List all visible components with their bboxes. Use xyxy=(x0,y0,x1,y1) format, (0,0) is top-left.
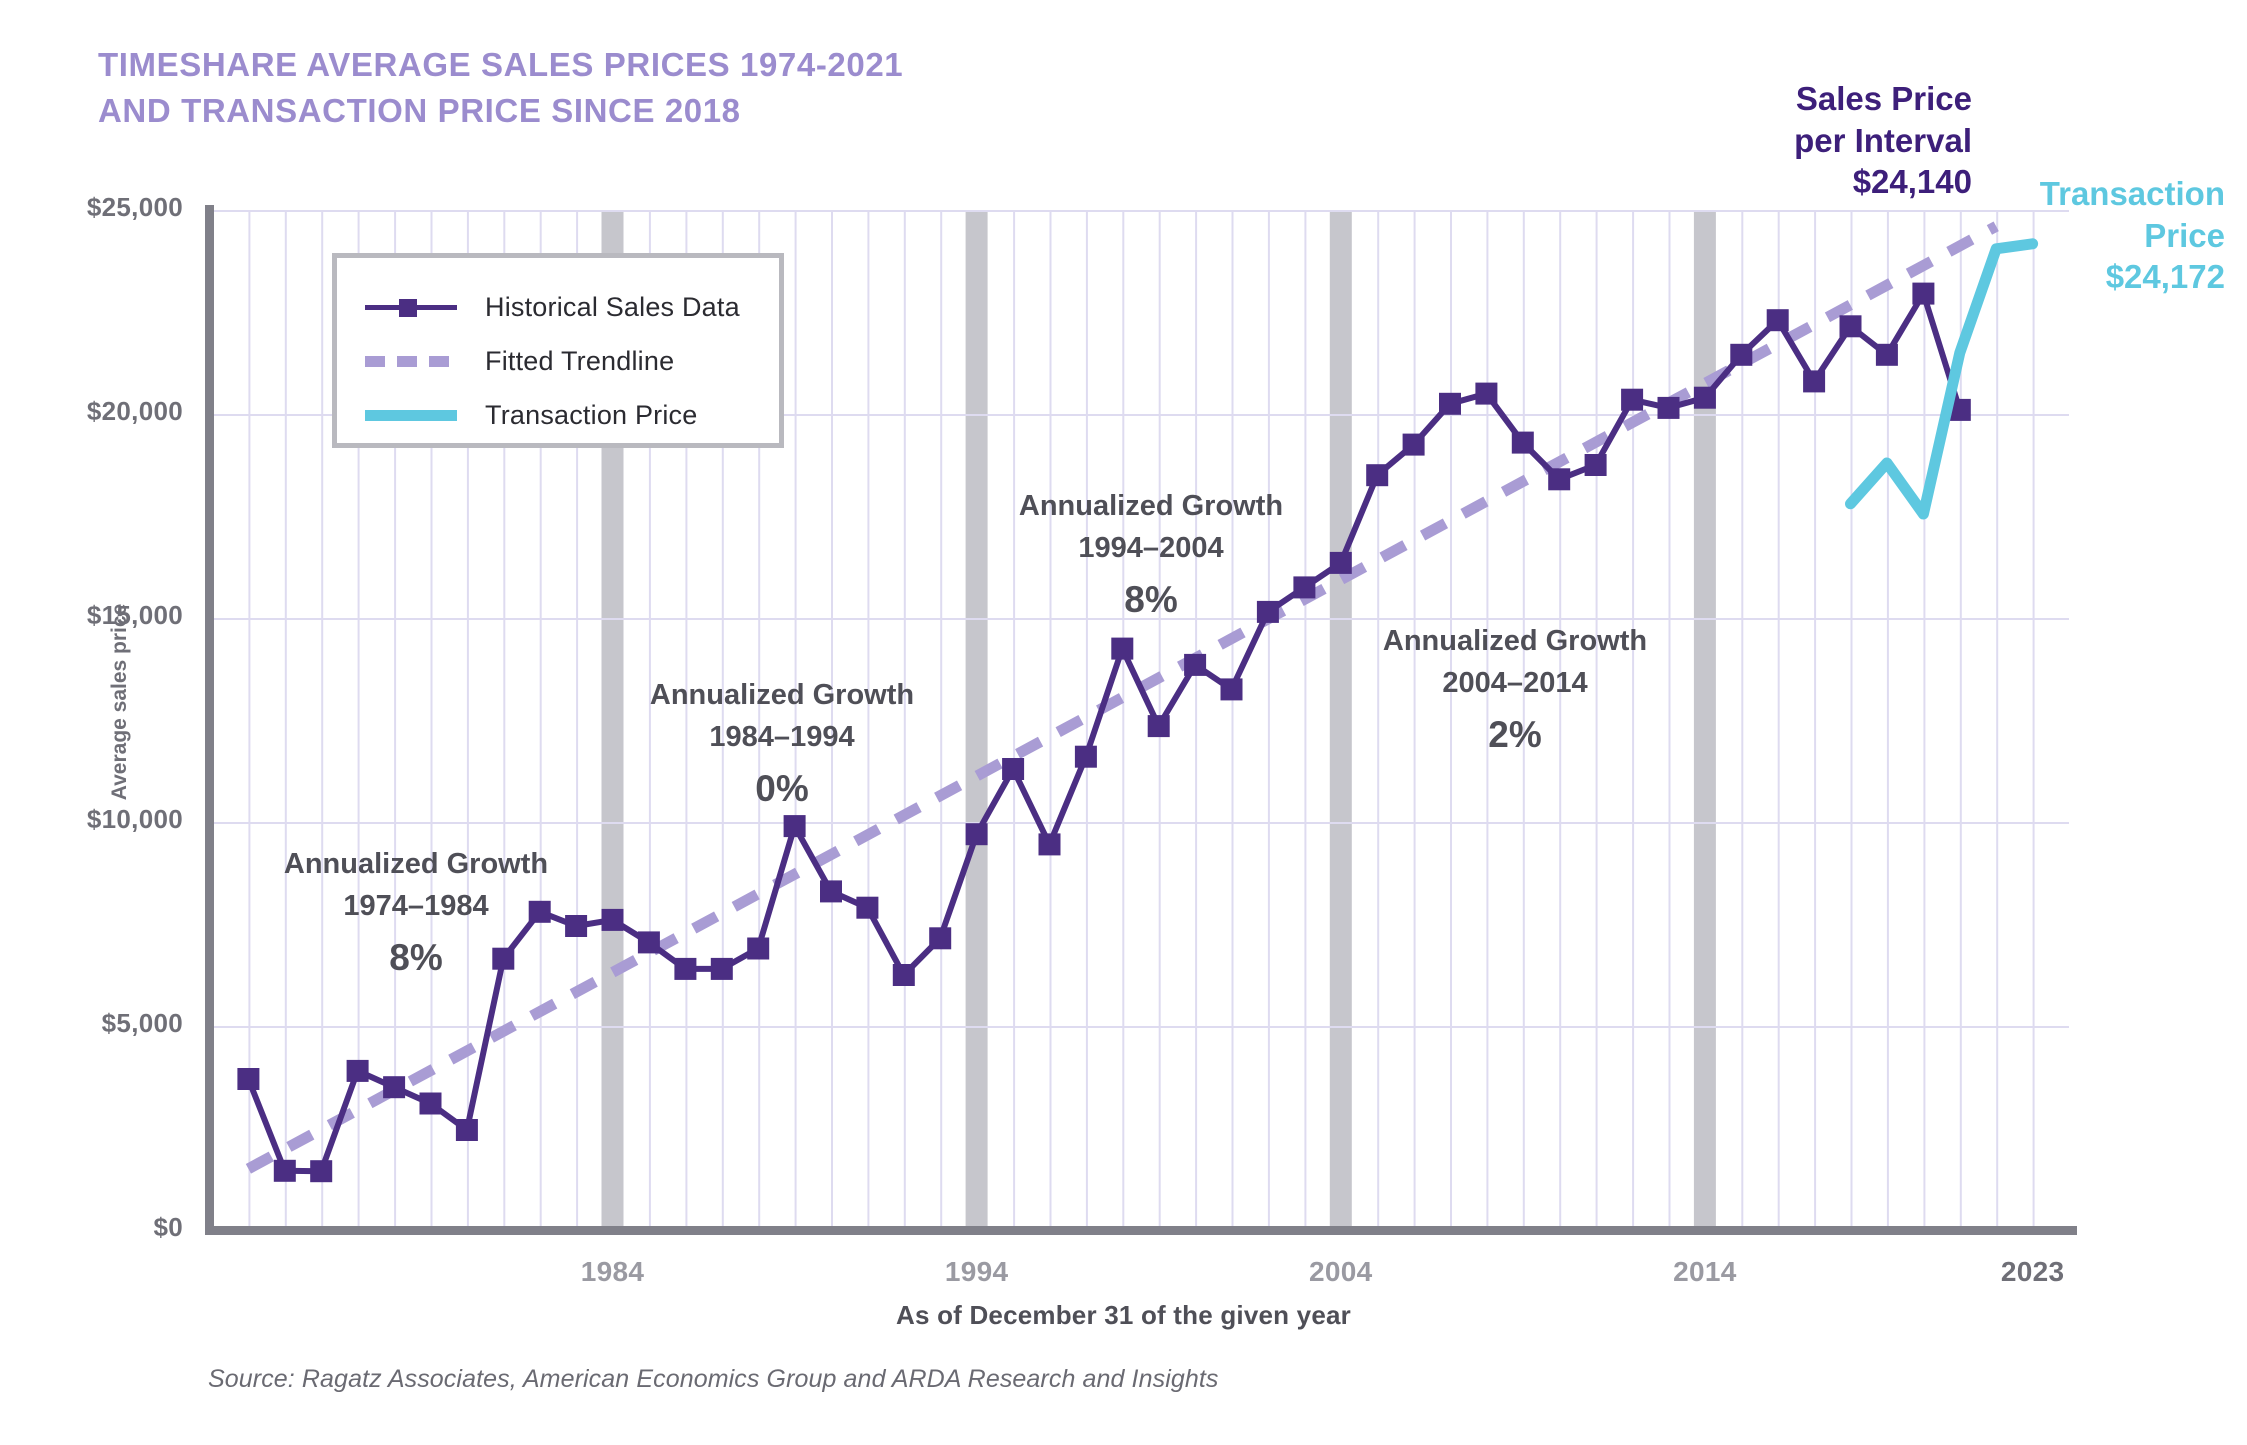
callout-transaction-price: Transaction Price $24,172 xyxy=(1985,173,2225,298)
callout-transaction-value: $24,172 xyxy=(1985,256,2225,298)
legend-label-historical-sales-data: Historical Sales Data xyxy=(485,292,740,323)
x-axis-title: As of December 31 of the given year xyxy=(0,1300,2247,1331)
y-axis-title: Average sales price xyxy=(108,562,132,842)
legend-item-transaction-price[interactable]: Transaction Price xyxy=(337,388,779,442)
y-tick-label: $20,000 xyxy=(3,396,183,427)
legend-key-historical-sales-data xyxy=(365,296,457,318)
x-tick-label: 2023 xyxy=(1953,1256,2113,1288)
callout-transaction-line-2: Price xyxy=(1985,215,2225,257)
chart-page: TIMESHARE AVERAGE SALES PRICES 1974-2021… xyxy=(0,0,2247,1445)
callout-transaction-line-1: Transaction xyxy=(1985,173,2225,215)
annotation-line-1: Annualized Growth xyxy=(1345,620,1685,662)
annotation-line-1: Annualized Growth xyxy=(246,843,586,885)
chart-legend: Historical Sales Data Fitted Trendline T… xyxy=(332,253,784,448)
annotation-line-2: 1994–2004 xyxy=(981,527,1321,569)
annotation-line-1: Annualized Growth xyxy=(981,485,1321,527)
y-tick-label: $15,000 xyxy=(3,600,183,631)
y-tick-label: $5,000 xyxy=(3,1008,183,1039)
source-note: Source: Ragatz Associates, American Econ… xyxy=(208,1365,1219,1394)
x-tick-label: 2004 xyxy=(1261,1256,1421,1288)
callout-sales-line-2: per Interval xyxy=(1712,120,1972,162)
legend-item-fitted-trendline[interactable]: Fitted Trendline xyxy=(337,334,779,388)
x-tick-label: 1994 xyxy=(897,1256,1057,1288)
annotation-value: 0% xyxy=(612,762,952,816)
callout-sales-price-per-interval: Sales Price per Interval $24,140 xyxy=(1712,78,1972,203)
callout-sales-value: $24,140 xyxy=(1712,161,1972,203)
y-axis-line xyxy=(205,205,214,1235)
annotation-growth-1974-1984: Annualized Growth 1974–1984 8% xyxy=(246,843,586,985)
chart-title: TIMESHARE AVERAGE SALES PRICES 1974-2021… xyxy=(98,42,903,133)
annotation-growth-1994-2004: Annualized Growth 1994–2004 8% xyxy=(981,485,1321,627)
annotation-growth-2004-2014: Annualized Growth 2004–2014 2% xyxy=(1345,620,1685,762)
annotation-value: 8% xyxy=(981,573,1321,627)
x-tick-label: 1984 xyxy=(533,1256,693,1288)
y-tick-label: $0 xyxy=(3,1212,183,1243)
legend-key-fitted-trendline xyxy=(365,350,457,372)
x-tick-label: 2014 xyxy=(1625,1256,1785,1288)
x-axis-line xyxy=(205,1226,2077,1235)
annotation-value: 8% xyxy=(246,931,586,985)
annotation-line-2: 1984–1994 xyxy=(612,716,952,758)
y-tick-label: $10,000 xyxy=(3,804,183,835)
legend-item-historical-sales-data[interactable]: Historical Sales Data xyxy=(337,280,779,334)
y-tick-label: $25,000 xyxy=(3,192,183,223)
annotation-growth-1984-1994: Annualized Growth 1984–1994 0% xyxy=(612,674,952,816)
callout-sales-line-1: Sales Price xyxy=(1712,78,1972,120)
legend-key-transaction-price xyxy=(365,404,457,426)
annotation-line-2: 1974–1984 xyxy=(246,885,586,927)
annotation-value: 2% xyxy=(1345,708,1685,762)
legend-label-transaction-price: Transaction Price xyxy=(485,400,697,431)
annotation-line-2: 2004–2014 xyxy=(1345,662,1685,704)
legend-label-fitted-trendline: Fitted Trendline xyxy=(485,346,674,377)
annotation-line-1: Annualized Growth xyxy=(612,674,952,716)
